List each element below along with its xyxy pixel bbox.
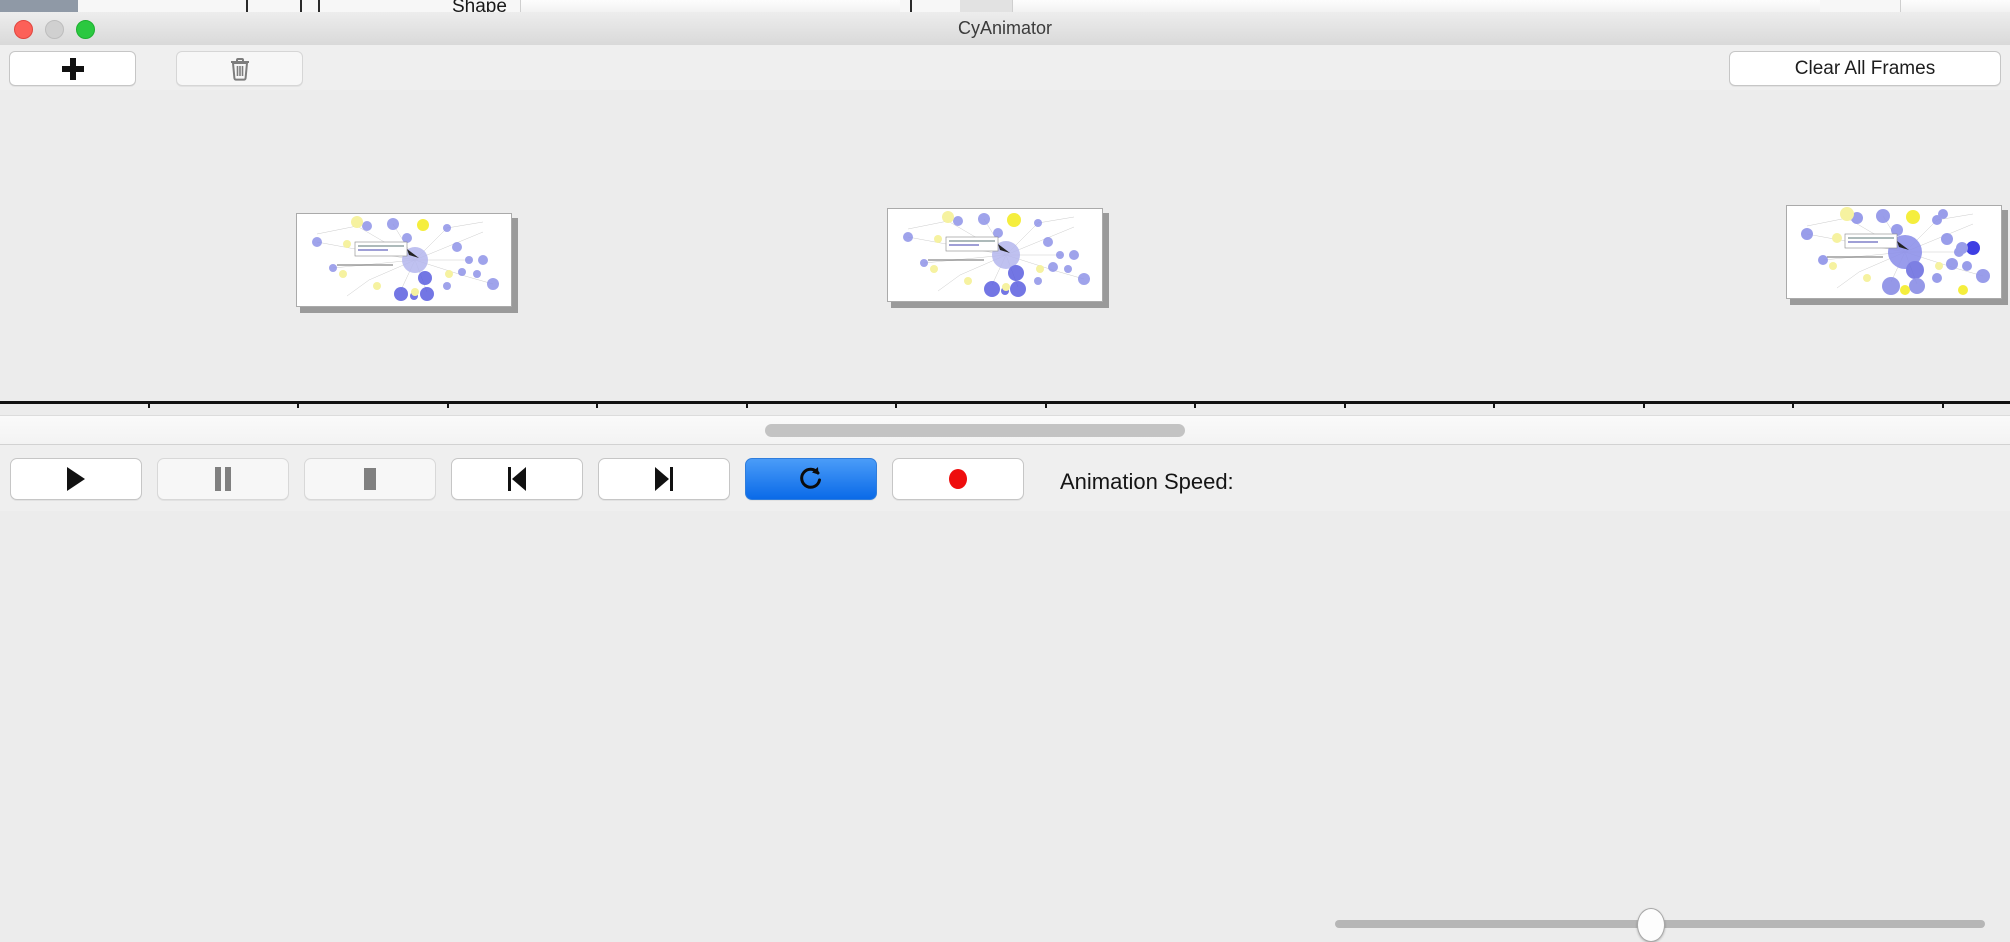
- axis-major-tick: [297, 404, 299, 408]
- skip-back-icon: [504, 465, 530, 493]
- stop-button[interactable]: [304, 458, 436, 500]
- timeline-frame[interactable]: [887, 208, 1109, 306]
- axis-major-tick: [1792, 404, 1794, 408]
- record-icon: [945, 465, 971, 493]
- axis-major-tick: [895, 404, 897, 408]
- network-thumbnail: [297, 214, 511, 306]
- delete-frame-button[interactable]: [176, 51, 303, 86]
- axis-minor-tick: [1344, 404, 1346, 408]
- network-thumbnail: [888, 209, 1102, 301]
- stop-icon: [358, 465, 382, 493]
- network-thumbnail: [1787, 206, 2001, 298]
- axis-minor-tick: [1942, 404, 1944, 408]
- window-title: CyAnimator: [0, 12, 2010, 45]
- timeline-scrollbar[interactable]: [0, 415, 2010, 445]
- playback-control-bar: Animation Speed:: [0, 444, 2010, 511]
- animation-speed-slider[interactable]: [1335, 920, 1985, 928]
- animation-speed-label: Animation Speed:: [1060, 469, 1234, 495]
- skip-to-end-button[interactable]: [598, 458, 730, 500]
- title-bar: CyAnimator: [0, 12, 2010, 46]
- skip-forward-icon: [651, 465, 677, 493]
- loop-toggle-button[interactable]: [745, 458, 877, 500]
- axis-major-tick: [1194, 404, 1196, 408]
- clear-all-frames-label: Clear All Frames: [1795, 58, 1935, 80]
- timeline-axis: [0, 401, 2010, 404]
- play-button[interactable]: [10, 458, 142, 500]
- play-icon: [63, 465, 89, 493]
- axis-minor-tick: [148, 404, 150, 408]
- add-frame-button[interactable]: [9, 51, 136, 86]
- axis-minor-tick: [746, 404, 748, 408]
- timeline-frame[interactable]: [1786, 205, 2008, 303]
- loop-icon: [798, 465, 824, 493]
- axis-minor-tick: [447, 404, 449, 408]
- cyanimator-window: Shape CyAnimator Clear All Frames: [0, 0, 2010, 510]
- scrollbar-thumb[interactable]: [765, 424, 1185, 437]
- pause-icon: [211, 465, 235, 493]
- record-button[interactable]: [892, 458, 1024, 500]
- timeline-frame[interactable]: [296, 213, 518, 311]
- trash-icon: [228, 56, 252, 82]
- axis-minor-tick: [1643, 404, 1645, 408]
- axis-major-tick: [1493, 404, 1495, 408]
- plus-icon: [62, 58, 84, 80]
- timeline-panel[interactable]: 2 13 14 15 16 17 18 Seconds: [0, 90, 2010, 408]
- toolbar: Clear All Frames: [0, 45, 2010, 91]
- axis-major-tick: [596, 404, 598, 408]
- clear-all-frames-button[interactable]: Clear All Frames: [1729, 51, 2001, 86]
- axis-minor-tick: [1045, 404, 1047, 408]
- pause-button[interactable]: [157, 458, 289, 500]
- slider-thumb[interactable]: [1637, 908, 1665, 942]
- skip-to-start-button[interactable]: [451, 458, 583, 500]
